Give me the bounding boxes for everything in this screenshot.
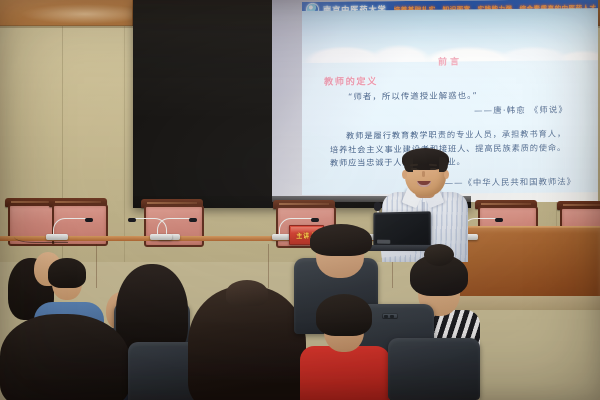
slide-title: 前言: [302, 53, 598, 69]
table-microphone[interactable]: [150, 216, 198, 240]
presenter-eye: [430, 168, 436, 170]
audience-hair: [48, 258, 86, 288]
presenter-eye: [411, 168, 417, 170]
lecture-hall-photo: 南京中医药大学 培养基础扎实、知识面宽、实践能力强、综合素质高的中医药人才 前言…: [0, 0, 600, 400]
audience-hair: [316, 294, 372, 336]
audience-hair: [0, 314, 130, 400]
ceiling-trim: [0, 0, 132, 26]
audience-seat[interactable]: [388, 338, 480, 400]
mic-capsule: [189, 218, 197, 222]
presenter-laptop[interactable]: [373, 211, 430, 246]
audience-hair: [310, 224, 372, 256]
slide-section-heading: 教师的定义: [324, 73, 378, 88]
audience-area: [0, 280, 600, 400]
mic-cable: [14, 228, 68, 243]
audience-hair-bun: [424, 244, 454, 266]
ceiling-light-glow: [20, 4, 150, 24]
seat-hinge: [382, 313, 398, 319]
presenter-nose: [422, 171, 425, 177]
audience-member: [300, 320, 390, 400]
mic-gooseneck: [157, 218, 192, 235]
audience-member: [0, 314, 130, 400]
audience-member: [188, 286, 306, 400]
mic-capsule: [85, 218, 93, 222]
audience-hair-bun: [226, 280, 268, 306]
mic-capsule: [311, 218, 319, 222]
slide-quote: “师者，所以传道授业解惑也。”: [348, 89, 478, 102]
seat-rim: [384, 336, 484, 400]
mic-capsule: [495, 218, 503, 222]
audience-member: [306, 224, 378, 280]
presenter-hair: [402, 148, 449, 170]
audience-torso-red: [300, 346, 390, 400]
slide-quote-attribution: ——唐·韩愈 《师说》: [474, 103, 568, 116]
mic-capsule: [128, 218, 136, 222]
wall-seam: [124, 24, 125, 262]
laptop-logo: [377, 240, 390, 244]
